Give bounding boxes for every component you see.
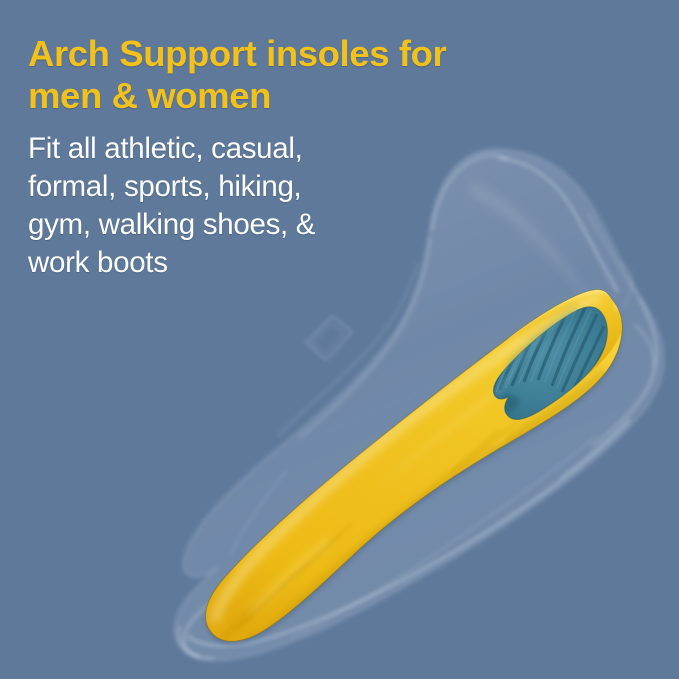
subcopy: Fit all athletic, casual, formal, sports… (28, 130, 548, 282)
marketing-copy: Arch Support insoles for men & women Fit… (28, 33, 548, 282)
product-marketing-image: Arch Support insoles for men & women Fit… (0, 0, 679, 679)
headline: Arch Support insoles for men & women (28, 33, 548, 117)
